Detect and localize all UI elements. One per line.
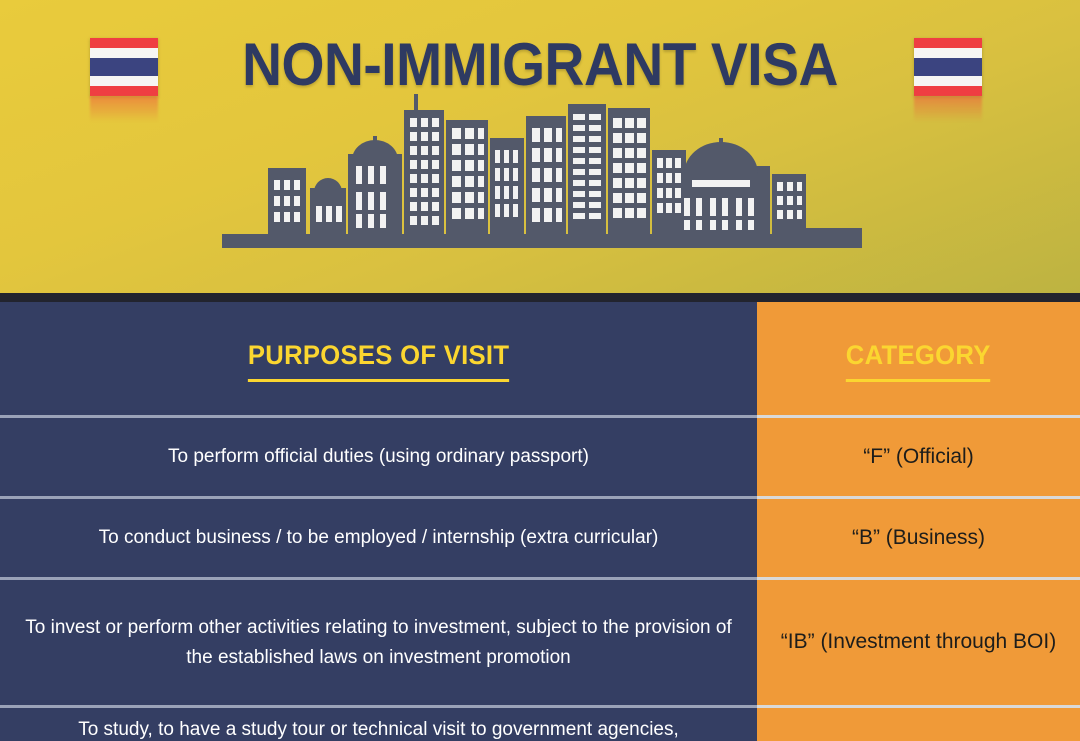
column-header-category: CATEGORY [757, 302, 1080, 415]
column-header-category-label: CATEGORY [846, 335, 991, 382]
hero-banner: NON-IMMIGRANT VISA [0, 0, 1080, 293]
flag-stripe-red-top [90, 38, 158, 48]
skyline-buildings [222, 94, 862, 248]
cell-purpose: To invest or perform other activities re… [0, 580, 757, 705]
table-row: To perform official duties (using ordina… [0, 418, 1080, 496]
visa-category-table: PURPOSES OF VISIT CATEGORY To perform of… [0, 302, 1080, 741]
cell-category: “B” (Business) [757, 499, 1080, 577]
column-header-purposes-label: PURPOSES OF VISIT [248, 335, 509, 382]
table-header-row: PURPOSES OF VISIT CATEGORY [0, 302, 1080, 415]
cell-category: “IB” (Investment through BOI) [757, 580, 1080, 705]
flag-stripe-white-top [914, 48, 982, 58]
column-header-purposes: PURPOSES OF VISIT [0, 302, 757, 415]
flag-stripe-blue [914, 58, 982, 75]
cell-purpose: To conduct business / to be employed / i… [0, 499, 757, 577]
cell-category: “F” (Official) [757, 418, 1080, 496]
flag-stripe-white-bottom [90, 76, 158, 86]
flag-stripe-blue [90, 58, 158, 75]
cell-purpose: To study, to have a study tour or techni… [0, 708, 757, 741]
skyline-reflection [268, 262, 806, 293]
flag-stripe-white-top [90, 48, 158, 58]
cell-category [757, 708, 1080, 741]
city-skyline-illustration [0, 88, 1080, 293]
flag-stripe-red-top [914, 38, 982, 48]
table-row: To study, to have a study tour or techni… [0, 708, 1080, 741]
cell-purpose: To perform official duties (using ordina… [0, 418, 757, 496]
table-row: To invest or perform other activities re… [0, 580, 1080, 705]
table-row: To conduct business / to be employed / i… [0, 499, 1080, 577]
hero-table-divider [0, 293, 1080, 302]
flag-stripe-white-bottom [914, 76, 982, 86]
visa-infographic-page: NON-IMMIGRANT VISA [0, 0, 1080, 741]
